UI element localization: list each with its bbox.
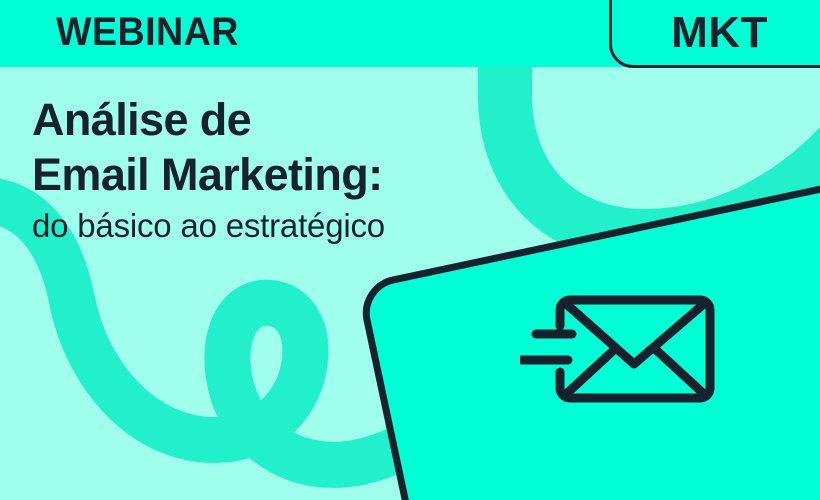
envelope-flap — [564, 302, 706, 364]
eyebrow-label-webinar: WEBINAR — [56, 0, 239, 67]
mkt-badge-label: MKT — [609, 0, 820, 68]
envelope-send-icon — [520, 288, 730, 423]
envelope-crease-right — [654, 348, 706, 396]
background-decoration-layer — [0, 0, 820, 500]
swirl-ribbon-top-right — [505, 55, 820, 236]
background-fill — [0, 0, 820, 500]
envelope-crease-left — [564, 348, 616, 396]
headline-line-1: Análise de — [32, 92, 385, 147]
headline-block: Análise de Email Marketing: do básico ao… — [32, 92, 385, 246]
swirl-ribbon-top-right-inner — [612, 55, 820, 160]
headline-line-2: Email Marketing: — [32, 147, 385, 202]
headline-subtitle: do básico ao estratégico — [32, 206, 385, 246]
webinar-banner: WEBINAR MKT Análise de Email Marketing: … — [0, 0, 820, 500]
rotated-card-layer — [0, 0, 820, 500]
